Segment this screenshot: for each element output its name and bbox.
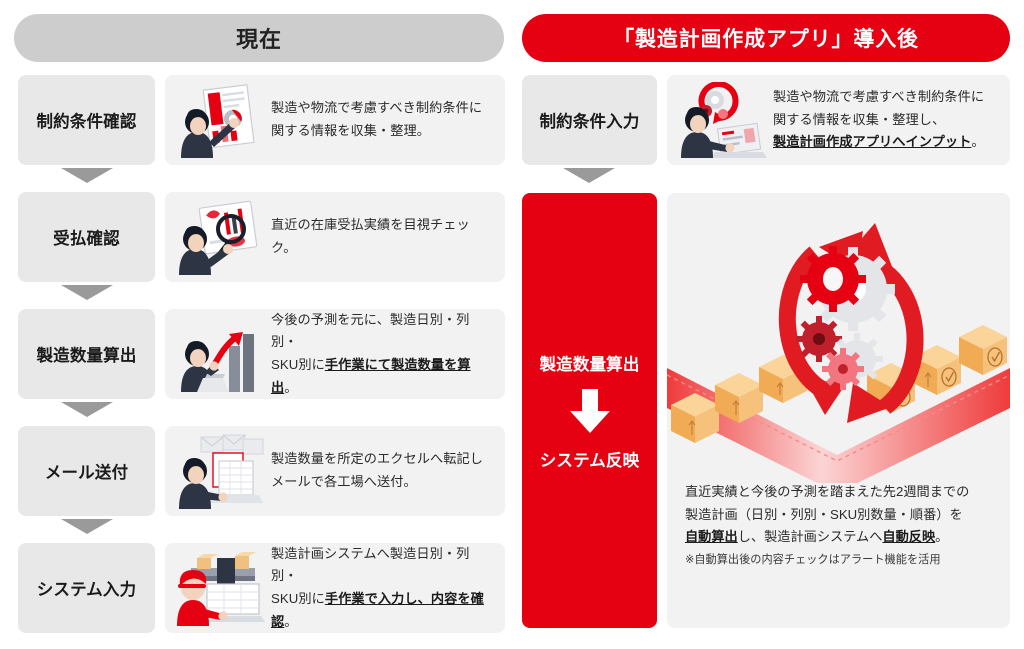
down-arrow-icon (570, 389, 610, 433)
person-magnifier-chart-icon (173, 199, 265, 275)
text-tail: 。 (971, 134, 984, 149)
automation-description: 直近実績と今後の予測を踏まえた先2週間までの 製造計画（日別・列別・SKU別数量… (685, 481, 995, 569)
header-after: 「製造計画作成アプリ」導入後 (522, 14, 1010, 62)
text-line: 直近実績と今後の予測を踏まえた先2週間までの (685, 484, 969, 499)
step-panel-seizo-suryo-sanshutsu: 今後の予測を元に、製造日別・列別・ SKU別に手作業にて製造数量を算出。 (165, 309, 505, 399)
step-text-seiyaku-kakunin: 製造や物流で考慮すべき制約条件に 関する情報を収集・整理。 (271, 97, 495, 142)
automation-panel: 直近実績と今後の予測を踏まえた先2週間までの 製造計画（日別・列別・SKU別数量… (667, 193, 1010, 628)
red-process-block[interactable]: 製造数量算出 システム反映 (522, 193, 657, 628)
step-panel-system-nyuryoku: 製造計画システムへ製造日別・列別・ SKU別に手作業で入力し、内容を確認。 (165, 543, 505, 633)
step-label-text: メール送付 (45, 459, 128, 483)
text-line: 製造や物流で考慮すべき制約条件に (773, 89, 984, 104)
flow-arrow-right-1 (563, 168, 615, 183)
gears-cycle-conveyor-boxes-icon (667, 193, 1010, 483)
worker-conveyor-monitor-icon (173, 550, 265, 626)
step-label-seiyaku-nyuryoku[interactable]: 制約条件入力 (522, 75, 657, 165)
step-panel-seiyaku-nyuryoku: 製造や物流で考慮すべき制約条件に 関する情報を収集・整理し、 製造計画作成アプリ… (667, 75, 1010, 165)
text-line: 今後の予測を元に、製造日別・列別・ (271, 312, 469, 350)
step-label-seiyaku-kakunin[interactable]: 制約条件確認 (18, 75, 155, 165)
step-label-mail-soufu[interactable]: メール送付 (18, 426, 155, 516)
step-label-text: 製造数量算出 (37, 342, 137, 366)
text-emphasis-2: 自動反映 (882, 529, 935, 544)
person-mail-spreadsheet-icon (173, 433, 265, 509)
automation-note: ※自動算出後の内容チェックはアラート機能を活用 (685, 552, 995, 569)
text-line: メールで各工場へ送付。 (271, 474, 417, 489)
text-line: 関する情報を収集・整理し、 (773, 112, 945, 127)
flow-arrow-2 (61, 285, 113, 300)
step-panel-mail-soufu: 製造数量を所定のエクセルへ転記し メールで各工場へ送付。 (165, 426, 505, 516)
text-line: SKU別に (271, 591, 325, 606)
text-tail: 。 (935, 529, 948, 544)
step-text-seiyaku-nyuryoku: 製造や物流で考慮すべき制約条件に 関する情報を収集・整理し、 製造計画作成アプリ… (773, 86, 1000, 154)
step-label-system-nyuryoku[interactable]: システム入力 (18, 543, 155, 633)
step-text-uketsuke-kakunin: 直近の在庫受払実績を目視チェック。 (271, 214, 495, 259)
person-laptop-growth-icon (173, 316, 265, 392)
text-line: SKU別に (271, 357, 325, 372)
text-tail: 。 (284, 380, 297, 395)
step-text-seizo-suryo-sanshutsu: 今後の予測を元に、製造日別・列別・ SKU別に手作業にて製造数量を算出。 (271, 309, 495, 400)
text-emphasis: 製造計画作成アプリへインプット (773, 134, 971, 149)
text-line: 製造計画システムへ製造日別・列別・ (271, 546, 469, 584)
step-label-uketsuke-kakunin[interactable]: 受払確認 (18, 192, 155, 282)
red-block-top-label: 製造数量算出 (540, 351, 640, 375)
red-block-bottom-label: システム反映 (540, 447, 640, 471)
header-after-label: 「製造計画作成アプリ」導入後 (613, 23, 919, 53)
step-label-text: 制約条件確認 (37, 108, 137, 132)
step-label-seizo-suryo-sanshutsu[interactable]: 製造数量算出 (18, 309, 155, 399)
flow-arrow-3 (61, 402, 113, 417)
flow-arrow-1 (61, 168, 113, 183)
flow-arrow-4 (61, 519, 113, 534)
step-panel-uketsuke-kakunin: 直近の在庫受払実績を目視チェック。 (165, 192, 505, 282)
step-label-text: 制約条件入力 (540, 108, 640, 132)
text-line: 製造や物流で考慮すべき制約条件に (271, 100, 482, 115)
step-panel-seiyaku-kakunin: 製造や物流で考慮すべき制約条件に 関する情報を収集・整理。 (165, 75, 505, 165)
person-laptop-gear-cycle-icon (675, 82, 767, 158)
header-before: 現在 (14, 14, 504, 62)
text-line: 関する情報を収集・整理。 (271, 123, 430, 138)
text-line: 製造数量を所定のエクセルへ転記し (271, 451, 483, 466)
person-chart-board-icon (173, 82, 265, 158)
text-mid: し、製造計画システムへ (738, 529, 883, 544)
text-tail: 。 (284, 614, 297, 629)
step-text-system-nyuryoku: 製造計画システムへ製造日別・列別・ SKU別に手作業で入力し、内容を確認。 (271, 543, 495, 634)
text-line: 直近の在庫受払実績を目視チェック。 (271, 217, 470, 255)
step-label-text: システム入力 (37, 576, 137, 600)
text-line: 製造計画（日別・列別・SKU別数量・順番）を (685, 507, 963, 522)
step-text-mail-soufu: 製造数量を所定のエクセルへ転記し メールで各工場へ送付。 (271, 448, 495, 493)
text-emphasis: 自動算出 (685, 529, 738, 544)
infographic-canvas: 現在 「製造計画作成アプリ」導入後 制約条件確認 (0, 0, 1024, 649)
step-label-text: 受払確認 (53, 225, 120, 249)
header-before-label: 現在 (236, 22, 282, 54)
